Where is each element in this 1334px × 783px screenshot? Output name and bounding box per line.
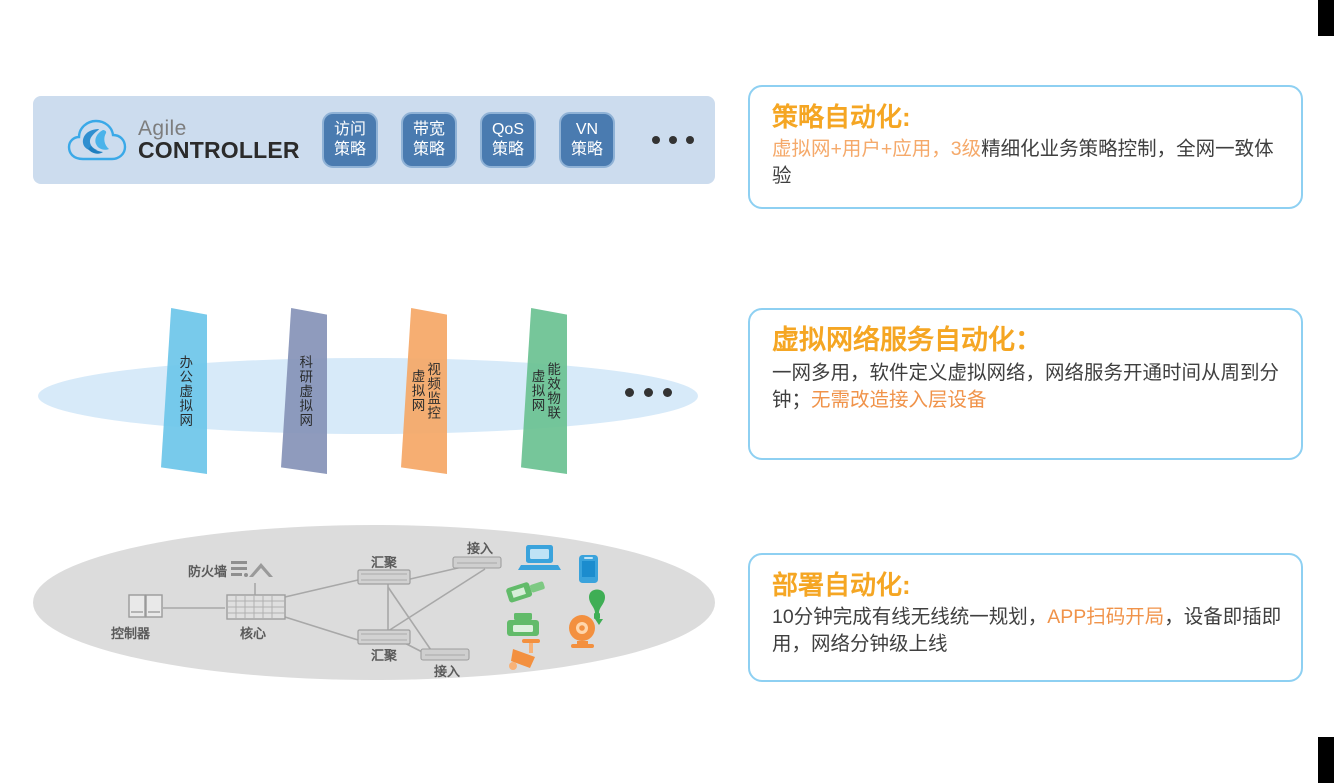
- vn-slice-label: 能效物联: [545, 362, 560, 420]
- node-access-top-icon: [453, 557, 501, 568]
- logo-controller-text: CONTROLLER: [138, 137, 300, 163]
- topology-label-agg-bottom: 汇聚: [371, 645, 397, 664]
- node-aggregation-top-icon: [358, 570, 410, 584]
- corner-bar-top: [1318, 0, 1334, 36]
- policy-chip-qos[interactable]: QoS 策略: [480, 112, 536, 168]
- vn-slice-label: 办公虚拟网: [177, 355, 192, 428]
- node-firewall-icon: [231, 561, 273, 577]
- callout-body-highlight: 无需改造接入层设备: [811, 389, 987, 411]
- endpoint-cctv-camera-icon: [509, 639, 540, 670]
- callout-title: 虚拟网络服务自动化：: [772, 324, 1283, 358]
- policy-chip-line2: 策略: [571, 140, 603, 160]
- network-topology-stage: 控制器 防火墙 核心 汇聚 汇聚 接入 接入: [33, 525, 715, 690]
- logo-wordmark: Agile CONTROLLER: [138, 118, 316, 162]
- callout-body: 10分钟完成有线无线统一规划，APP扫码开局，设备即插即用，网络分钟级上线: [772, 604, 1283, 659]
- vn-slice-office: 办公虚拟网: [161, 308, 207, 474]
- node-controller-icon: [129, 595, 162, 617]
- policy-chip-line1: 访问: [334, 120, 366, 140]
- policy-chip-bandwidth[interactable]: 带宽 策略: [401, 112, 457, 168]
- policy-chip-line2: 策略: [334, 140, 366, 160]
- endpoint-laptop-icon: [518, 545, 561, 570]
- topology-label-controller: 控制器: [111, 623, 150, 642]
- callout-title: 策略自动化:: [772, 101, 1283, 134]
- endpoint-webcam-icon: [569, 615, 595, 648]
- corner-bar-bottom: [1318, 737, 1334, 783]
- node-aggregation-bottom-icon: [358, 630, 410, 644]
- topology-label-agg-top: 汇聚: [371, 552, 397, 571]
- policy-chip-line2: 策略: [492, 140, 524, 160]
- topology-label-core: 核心: [240, 623, 266, 642]
- vn-slice-research: 科研虚拟网: [281, 308, 327, 474]
- node-core-switch-icon: [227, 595, 285, 619]
- vn-slice-label: 视频监控: [425, 362, 440, 420]
- vn-slice-label-2: 虚拟网: [409, 369, 424, 413]
- policy-chip-row: 访问 策略 带宽 策略 QoS 策略 VN 策略: [322, 112, 694, 168]
- vn-slice-label: 科研虚拟网: [297, 355, 312, 428]
- topology-label-access-bottom: 接入: [434, 661, 460, 680]
- callout-virtual-network-service-automation: 虚拟网络服务自动化： 一网多用，软件定义虚拟网络，网络服务开通时间从周到分钟；无…: [748, 308, 1303, 460]
- topology-label-access-top: 接入: [467, 538, 493, 557]
- callout-body: 一网多用，软件定义虚拟网络，网络服务开通时间从周到分钟；无需改造接入层设备: [772, 360, 1283, 415]
- endpoint-barcode-scanner-icon: [505, 577, 546, 603]
- agile-controller-bar: Agile CONTROLLER 访问 策略 带宽 策略 QoS 策略 VN 策…: [33, 96, 715, 184]
- policy-chip-line1: VN: [576, 120, 598, 140]
- vn-slice-video-surveillance: 虚拟网 视频监控: [401, 308, 447, 474]
- agile-controller-logo: Agile CONTROLLER: [66, 116, 316, 164]
- callout-body-highlight: 虚拟网+用户+应用，3级: [772, 138, 981, 160]
- vn-slice-label-2: 虚拟网: [529, 369, 544, 413]
- callout-body: 虚拟网+用户+应用，3级精细化业务策略控制，全网一致体验: [772, 136, 1283, 191]
- vn-more-ellipsis-icon: [625, 388, 672, 397]
- policy-chip-line1: 带宽: [413, 120, 445, 140]
- node-access-bottom-icon: [421, 649, 469, 660]
- topology-label-firewall: 防火墙: [188, 561, 227, 580]
- policy-chip-access[interactable]: 访问 策略: [322, 112, 378, 168]
- physical-network-ellipse: [38, 358, 698, 434]
- callout-title: 部署自动化:: [772, 569, 1283, 602]
- topology-graphics: [33, 525, 715, 690]
- endpoint-printer-icon: [507, 613, 539, 636]
- callout-policy-automation: 策略自动化: 虚拟网+用户+应用，3级精细化业务策略控制，全网一致体验: [748, 85, 1303, 209]
- callout-body-highlight: APP扫码开局: [1047, 606, 1164, 628]
- callout-deployment-automation: 部署自动化: 10分钟完成有线无线统一规划，APP扫码开局，设备即插即用，网络分…: [748, 553, 1303, 682]
- callout-body-text: 10分钟完成有线无线统一规划，: [772, 606, 1047, 628]
- policy-chip-line2: 策略: [413, 140, 445, 160]
- virtual-network-stage: 办公虚拟网 科研虚拟网 虚拟网 视频监控 虚拟网 能效物联: [33, 300, 715, 490]
- policy-chip-vn[interactable]: VN 策略: [559, 112, 615, 168]
- vn-slice-energy-iot: 虚拟网 能效物联: [521, 308, 567, 474]
- endpoint-tablet-icon: [579, 555, 598, 583]
- policy-chip-line1: QoS: [492, 120, 524, 140]
- policy-more-ellipsis-icon: [652, 136, 694, 144]
- cloud-swirl-icon: [66, 116, 128, 164]
